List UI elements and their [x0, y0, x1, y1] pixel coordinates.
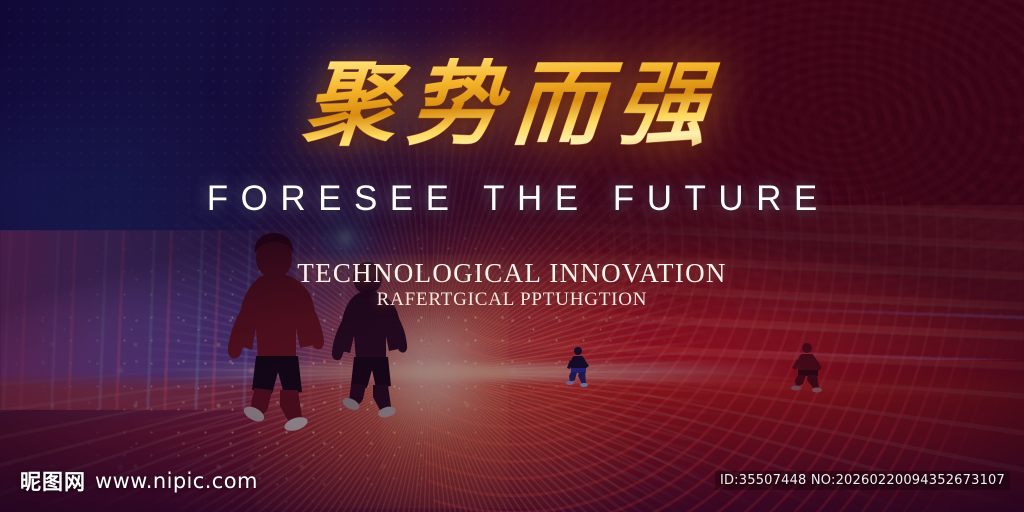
- headline-english: FORESEE THE FUTURE: [0, 180, 1024, 219]
- watermark-site-name: 昵图网: [20, 466, 86, 496]
- subtitle-primary: TECHNOLOGICAL INNOVATION: [0, 258, 1024, 289]
- image-id-code: ID:35507448 NO:20260220094352673107: [715, 471, 1010, 490]
- subtitle-secondary: RAFERTGICAL PPTUHGTION: [0, 289, 1024, 311]
- runner-distant-red: [788, 342, 824, 394]
- poster-canvas: 聚势而强 FORESEE THE FUTURE TECHNOLOGICAL IN…: [0, 0, 1024, 512]
- runner-distant-blue: [564, 346, 592, 388]
- watermark: 昵图网 www.nipic.com: [20, 466, 258, 496]
- headline-chinese: 聚势而强: [0, 58, 1024, 150]
- watermark-site-url: www.nipic.com: [95, 469, 258, 493]
